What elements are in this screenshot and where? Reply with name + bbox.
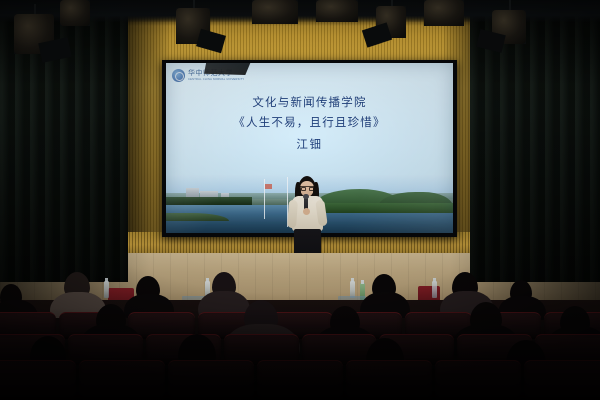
- auditorium-seat: [257, 360, 343, 400]
- water-bottle: [104, 281, 109, 298]
- spotlight-center-left: [252, 0, 298, 24]
- auditorium-seat: [168, 360, 254, 400]
- spotlight-right-inner: [376, 6, 406, 38]
- spotlight-left-inner: [176, 8, 210, 44]
- presenter-hand: [303, 208, 310, 215]
- presenter-arm-left: [287, 200, 298, 229]
- university-emblem-icon: [172, 69, 185, 82]
- auditorium-seat: [435, 360, 521, 400]
- spotlight-left-outer: [14, 14, 54, 54]
- eyeglasses-icon: [300, 186, 314, 190]
- light-fixture-silhouette: [204, 63, 252, 75]
- auditorium-seat: [346, 360, 432, 400]
- spotlight-center-right: [316, 0, 358, 22]
- slide-line-speech-title: 《人生不易，且行且珍惜》: [166, 113, 453, 133]
- water-bottle: [432, 281, 437, 298]
- slide-text-block: 文化与新闻传播学院 《人生不易，且行且珍惜》 江钿: [166, 93, 453, 155]
- auditorium-seat: [524, 360, 600, 400]
- panorama-flag: [265, 184, 272, 189]
- auditorium-seat: [79, 360, 165, 400]
- slide-line-speaker-name: 江钿: [166, 135, 453, 155]
- seat-row: [0, 360, 600, 400]
- panorama-trees: [166, 197, 252, 205]
- par-can-left: [60, 0, 90, 26]
- auditorium-photo: 华中师范大学 CENTRAL CHINA NORMAL UNIVERSITY 文…: [0, 0, 600, 400]
- slide-line-department: 文化与新闻传播学院: [166, 93, 453, 113]
- spotlight-right-outer: [492, 10, 526, 44]
- par-can-right: [424, 0, 464, 26]
- slide-logo-english-name: CENTRAL CHINA NORMAL UNIVERSITY: [188, 78, 244, 81]
- auditorium-seat: [0, 360, 76, 400]
